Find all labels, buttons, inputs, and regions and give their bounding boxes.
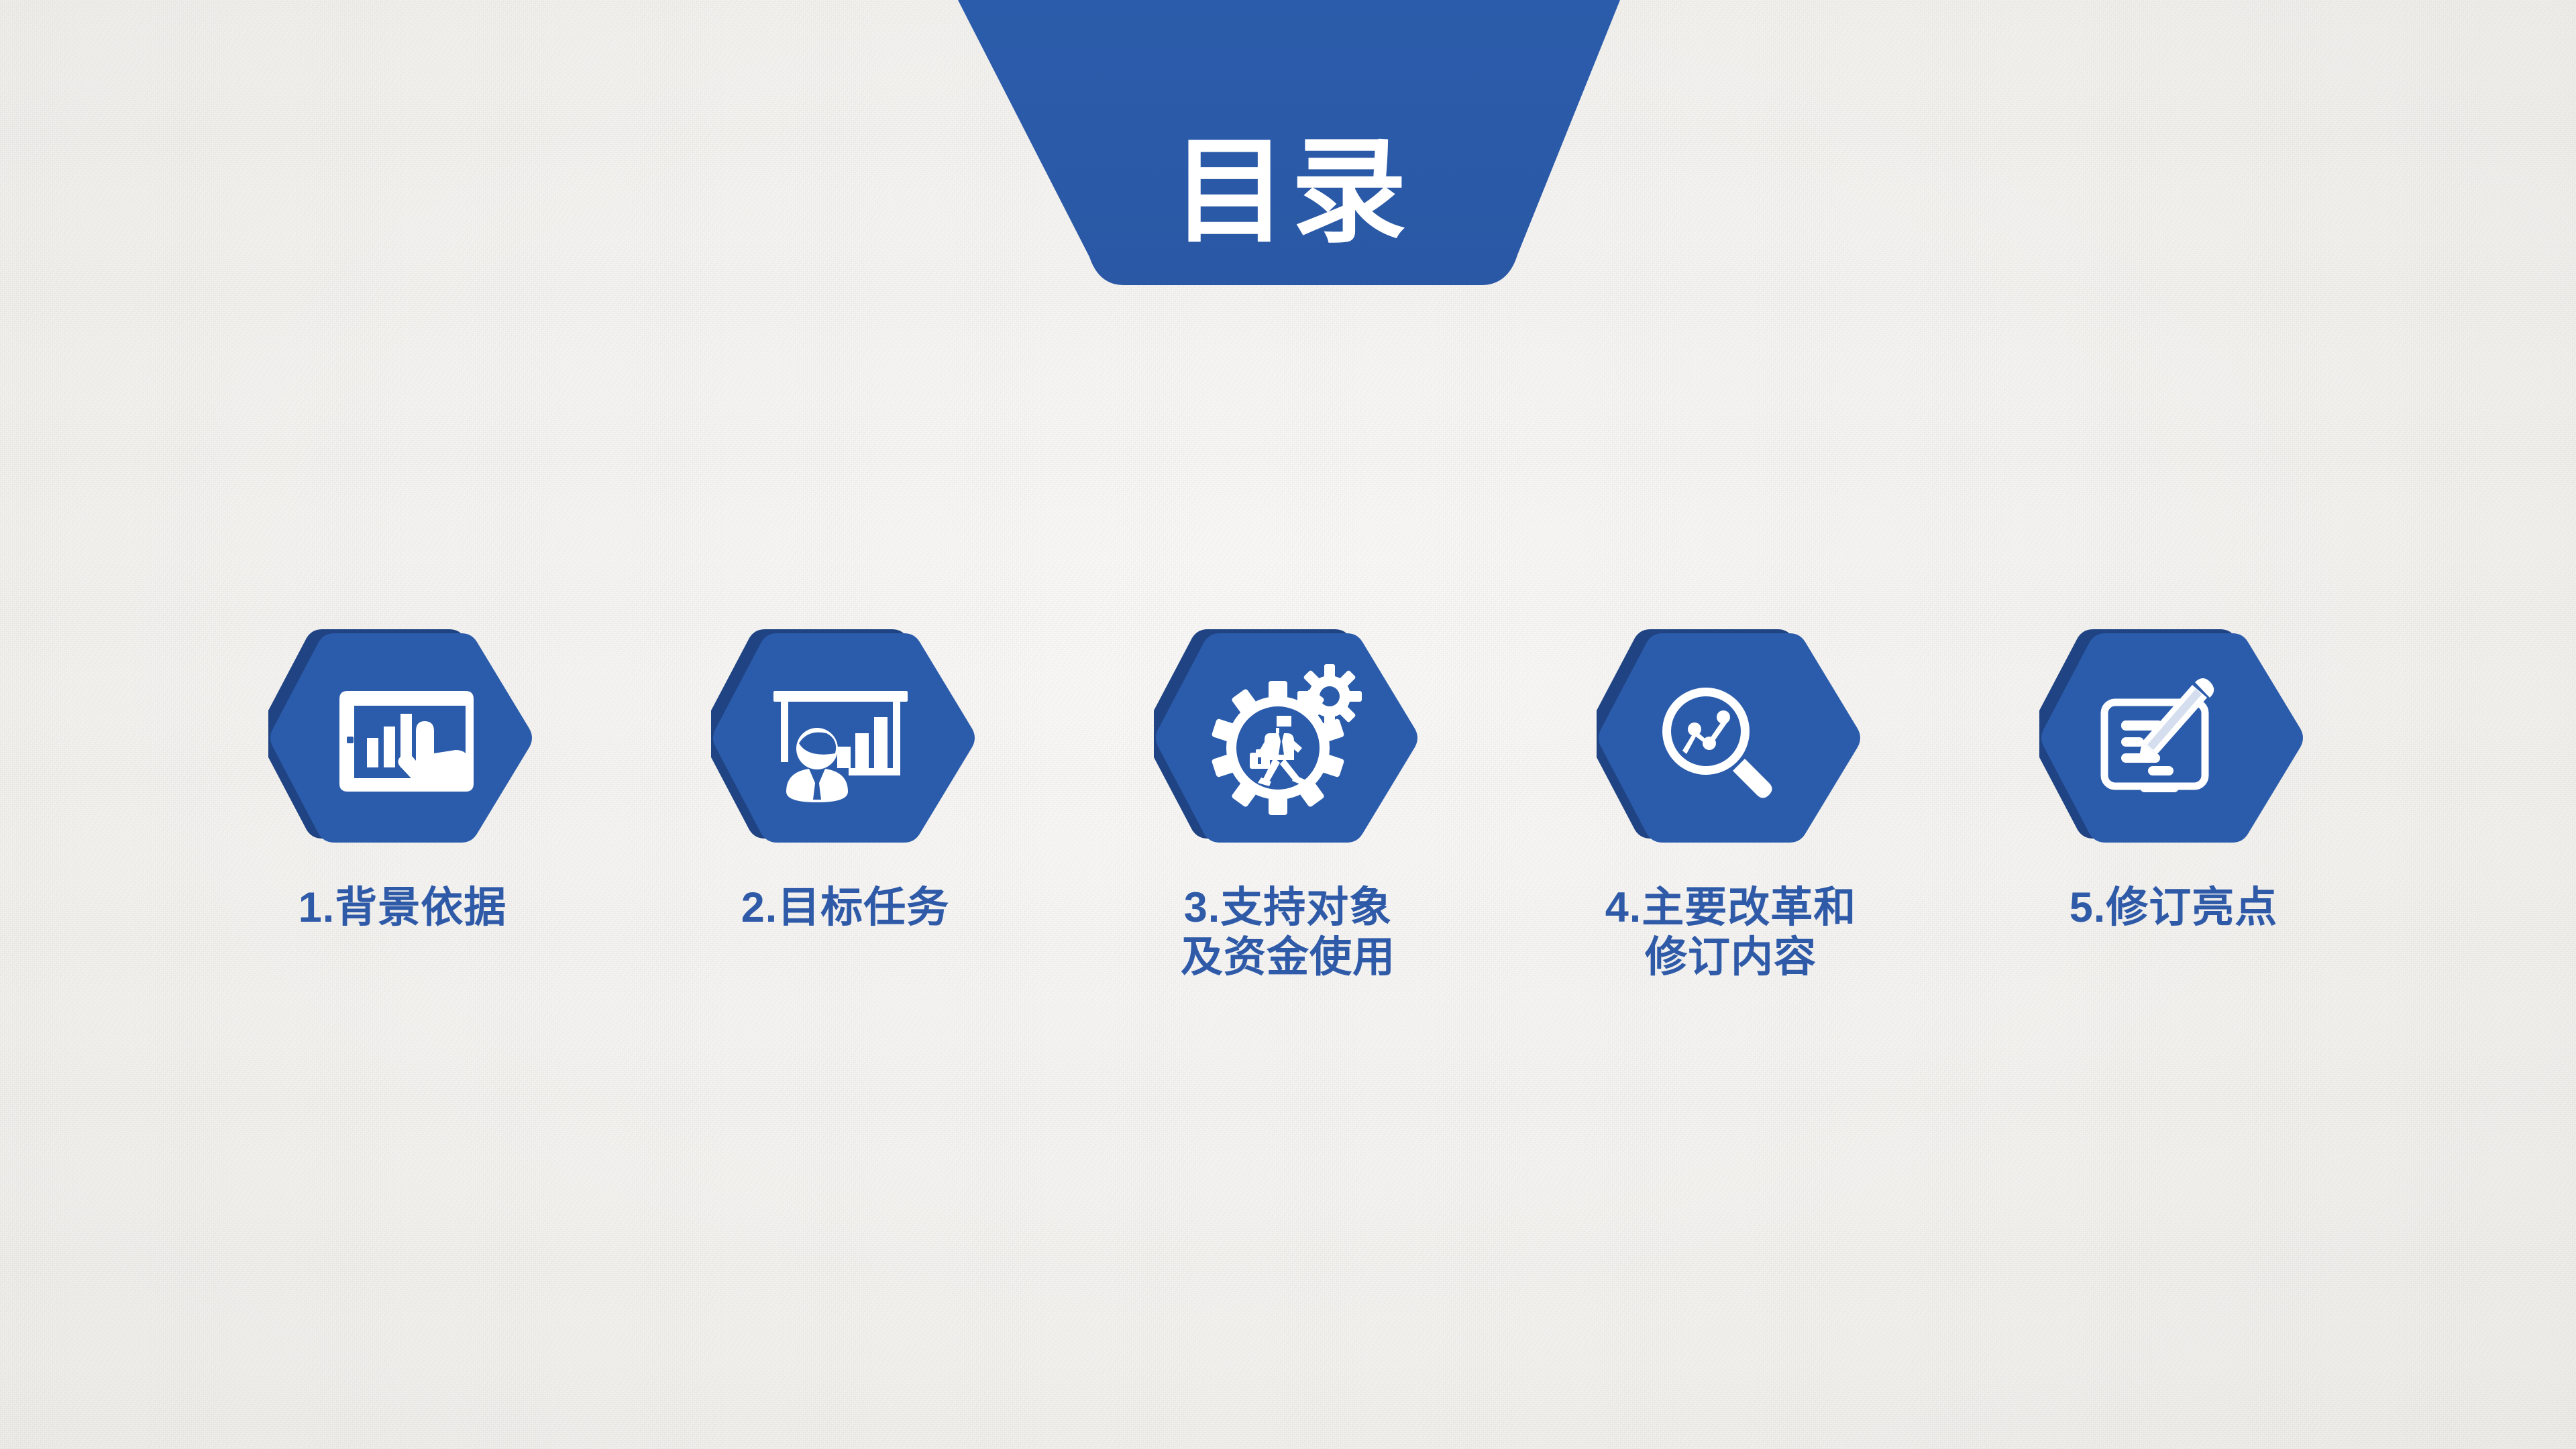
toc-item-2[interactable]: 2.目标任务 [624,624,1067,932]
hex-badge-3[interactable] [1154,624,1422,852]
hex-badge-1[interactable] [268,624,537,852]
page-title: 目录 [932,125,1650,259]
toc-item-label-5: 5.修订亮点 [2070,883,2278,932]
toc-item-5[interactable]: 5.修订亮点 [1952,624,2395,932]
toc-item-1[interactable]: 1.背景依据 [181,624,624,932]
toc-item-label-2: 2.目标任务 [741,883,950,932]
magnifier-trend-chart-icon [1597,624,1865,852]
title-banner: 目录 [932,0,1650,288]
toc-item-label-3: 3.支持对象 及资金使用 [1181,883,1395,982]
hex-badge-4[interactable] [1597,624,1865,852]
presentation-presenter-chart-icon [711,624,979,852]
note-pen-edit-icon [2039,624,2308,852]
toc-item-label-1: 1.背景依据 [299,883,507,932]
hex-badge-5[interactable] [2039,624,2308,852]
tablet-bar-chart-touch-icon [268,624,537,852]
slide-canvas: 目录 [0,0,2576,1449]
toc-item-4[interactable]: 4.主要改革和 修订内容 [1509,624,1952,982]
toc-items-row: 1.背景依据 [181,624,2395,1134]
toc-item-3[interactable]: 3.支持对象 及资金使用 [1067,624,1509,982]
hex-badge-2[interactable] [711,624,979,852]
gears-businessman-icon [1154,624,1422,852]
toc-item-label-4: 4.主要改革和 修订内容 [1605,883,1857,982]
